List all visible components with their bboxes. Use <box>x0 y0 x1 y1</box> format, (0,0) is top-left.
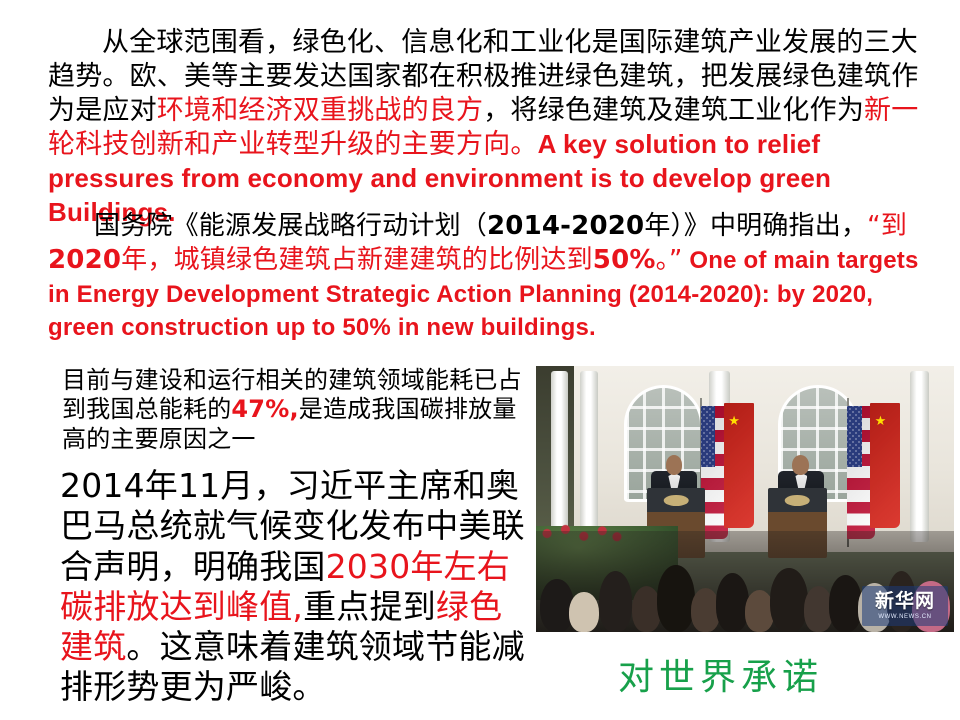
colonnade-column-2 <box>580 371 598 541</box>
pledge-to-the-world-caption: 对世界承诺 <box>618 648 823 700</box>
colonnade-column-1 <box>551 371 569 541</box>
speaker-obama-head <box>792 455 809 475</box>
policy-segment-3: 年）》中明确指出， <box>644 211 867 241</box>
china-flag-right <box>870 403 900 528</box>
statement-segment-3: 重点提到 <box>303 587 436 626</box>
global-trends-segment-2: 环境和经济双重挑战的良方 <box>157 95 483 126</box>
colonnade-column-4 <box>910 371 929 541</box>
policy-target-percent: 50% <box>593 245 656 275</box>
policy-year-range: 2014-2020 <box>487 211 644 241</box>
china-us-joint-statement-paragraph: 2014年11月，习近平主席和奥巴马总统就气候变化发布中美联合声明，明确我国20… <box>60 466 530 708</box>
statement-segment-5: 。这意味着建筑领域节能减排形势更为严峻。 <box>60 627 525 706</box>
xinhua-watermark: 新华网 WWW.NEWS.CN <box>862 586 948 626</box>
presentation-slide: 从全球范围看，绿色化、信息化和工业化是国际建筑产业发展的三大趋势。欧、美等主要发… <box>0 0 960 720</box>
global-trends-segment-3: ，将绿色建筑及建筑工业化作为 <box>483 95 864 126</box>
audience-head <box>599 571 632 632</box>
audience-head <box>569 592 598 632</box>
audience-head <box>657 565 695 632</box>
policy-quote-close: 。” <box>656 245 683 275</box>
energy-policy-paragraph: 国务院《能源发展战略行动计划（2014-2020年）》中明确指出，“到2020年… <box>48 210 928 345</box>
policy-quote-body: 年，城镇绿色建筑占新建建筑的比例达到 <box>121 245 593 275</box>
energy-share-value: 47%, <box>231 395 298 423</box>
policy-segment-1: 国务院《能源发展战略行动计划（ <box>94 211 487 241</box>
policy-target-year: 2020 <box>48 245 121 275</box>
speaker-xi-jinping-head <box>666 455 683 475</box>
xinhua-watermark-label: 新华网 <box>875 592 935 611</box>
china-flag-left <box>724 403 754 528</box>
xi-obama-press-conference-photo: 新华网 WWW.NEWS.CN <box>536 366 954 632</box>
audience-head <box>770 568 808 632</box>
global-trends-paragraph: 从全球范围看，绿色化、信息化和工业化是国际建筑产业发展的三大趋势。欧、美等主要发… <box>48 26 920 230</box>
policy-quote-open: “到 <box>867 211 907 241</box>
building-energy-consumption-paragraph: 目前与建设和运行相关的建筑领域能耗已占到我国总能耗的47%,是造成我国碳排放量高… <box>62 366 524 454</box>
xinhua-watermark-url: WWW.NEWS.CN <box>878 614 931 620</box>
audience-head <box>716 573 749 632</box>
audience-head <box>829 575 862 632</box>
